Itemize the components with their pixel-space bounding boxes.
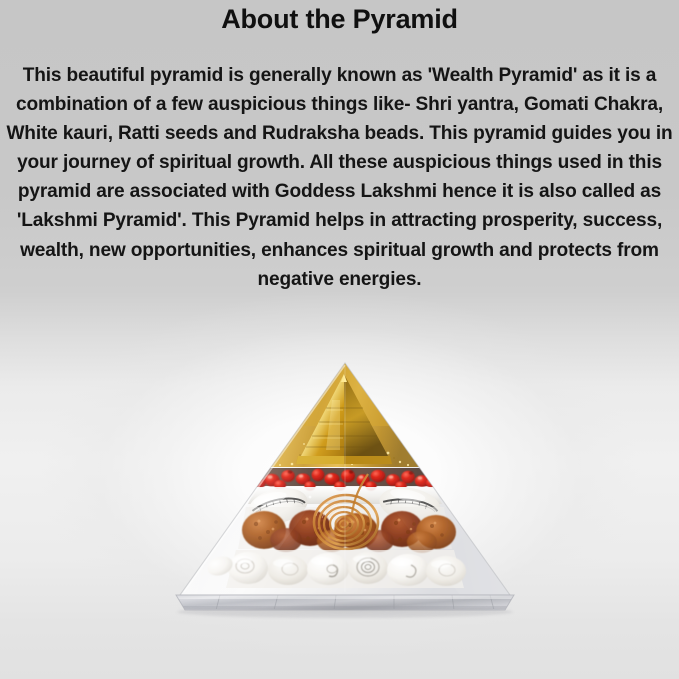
page-title: About the Pyramid	[0, 2, 679, 36]
page-background: About the Pyramid This beautiful pyramid…	[0, 0, 679, 679]
pyramid-illustration	[160, 352, 530, 620]
pyramid-body	[180, 363, 510, 595]
pyramid-description-text: This beautiful pyramid is generally know…	[2, 61, 677, 294]
product-image-pyramid	[160, 352, 530, 620]
